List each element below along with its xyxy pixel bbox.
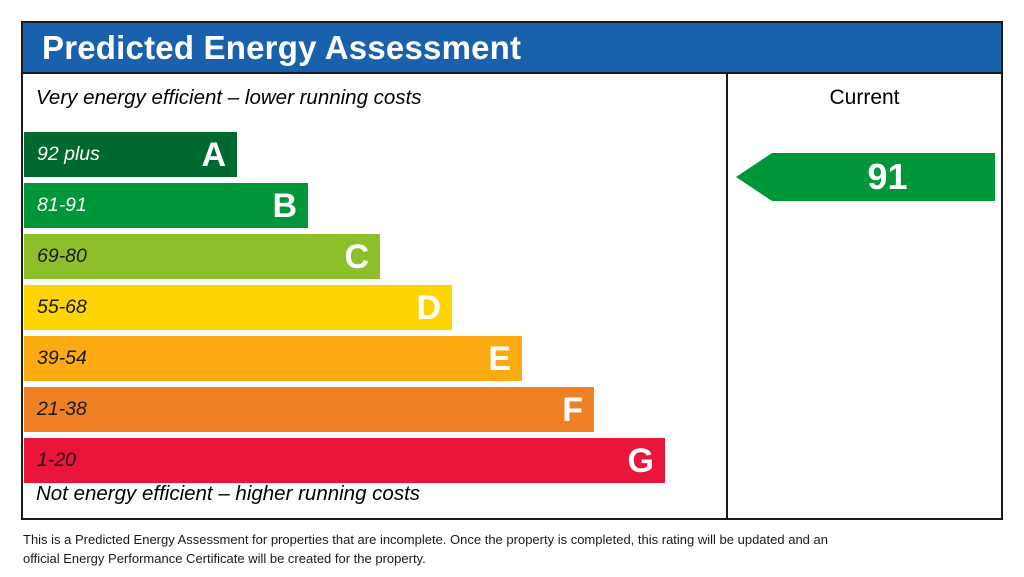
band-row-d: 55-68D xyxy=(24,285,728,330)
band-row-c: 69-80C xyxy=(24,234,728,279)
band-row-b: 81-91B xyxy=(24,183,728,228)
band-range-label: 39-54 xyxy=(24,349,87,369)
energy-certificate: Predicted Energy Assessment Very energy … xyxy=(0,0,1024,577)
band-letter-label: G xyxy=(628,444,665,478)
band-letter-label: A xyxy=(201,138,237,172)
band-range-label: 21-38 xyxy=(24,400,87,420)
band-row-g: 1-20G xyxy=(24,438,728,483)
band-row-a: 92 plusA xyxy=(24,132,728,177)
band-bar-d: 55-68D xyxy=(24,285,452,330)
current-column-header: Current xyxy=(728,86,1001,110)
chart-bottom-caption: Not energy efficient – higher running co… xyxy=(36,482,420,506)
title-bar: Predicted Energy Assessment xyxy=(23,23,1001,74)
band-bar-a: 92 plusA xyxy=(24,132,237,177)
footer-line-1: This is a Predicted Energy Assessment fo… xyxy=(23,531,823,550)
band-range-label: 55-68 xyxy=(24,298,87,318)
band-bar-f: 21-38F xyxy=(24,387,594,432)
certificate-body: Very energy efficient – lower running co… xyxy=(23,74,1001,518)
band-bar-e: 39-54E xyxy=(24,336,522,381)
arrow-shape-icon xyxy=(736,151,995,203)
chart-top-caption: Very energy efficient – lower running co… xyxy=(36,86,422,110)
band-letter-label: E xyxy=(488,342,522,376)
band-range-label: 92 plus xyxy=(24,145,100,165)
ratings-column: Current 91 xyxy=(728,74,1001,518)
band-letter-label: B xyxy=(272,189,308,223)
band-row-e: 39-54E xyxy=(24,336,728,381)
band-row-f: 21-38F xyxy=(24,387,728,432)
band-letter-label: F xyxy=(562,393,594,427)
band-letter-label: D xyxy=(416,291,452,325)
certificate-frame: Predicted Energy Assessment Very energy … xyxy=(21,21,1003,520)
footer-note: This is a Predicted Energy Assessment fo… xyxy=(23,531,823,569)
band-letter-label: C xyxy=(344,240,380,274)
band-bar-c: 69-80C xyxy=(24,234,380,279)
band-bar-g: 1-20G xyxy=(24,438,665,483)
page-title: Predicted Energy Assessment xyxy=(23,31,521,64)
band-bar-b: 81-91B xyxy=(24,183,308,228)
band-range-label: 1-20 xyxy=(24,451,76,471)
band-list: 92 plusA81-91B69-80C55-68D39-54E21-38F1-… xyxy=(24,132,728,489)
current-rating-arrow: 91 xyxy=(736,151,995,203)
band-range-label: 69-80 xyxy=(24,247,87,267)
energy-rating-chart: Very energy efficient – lower running co… xyxy=(23,74,728,518)
band-range-label: 81-91 xyxy=(24,196,87,216)
footer-line-2: official Energy Performance Certificate … xyxy=(23,550,823,569)
